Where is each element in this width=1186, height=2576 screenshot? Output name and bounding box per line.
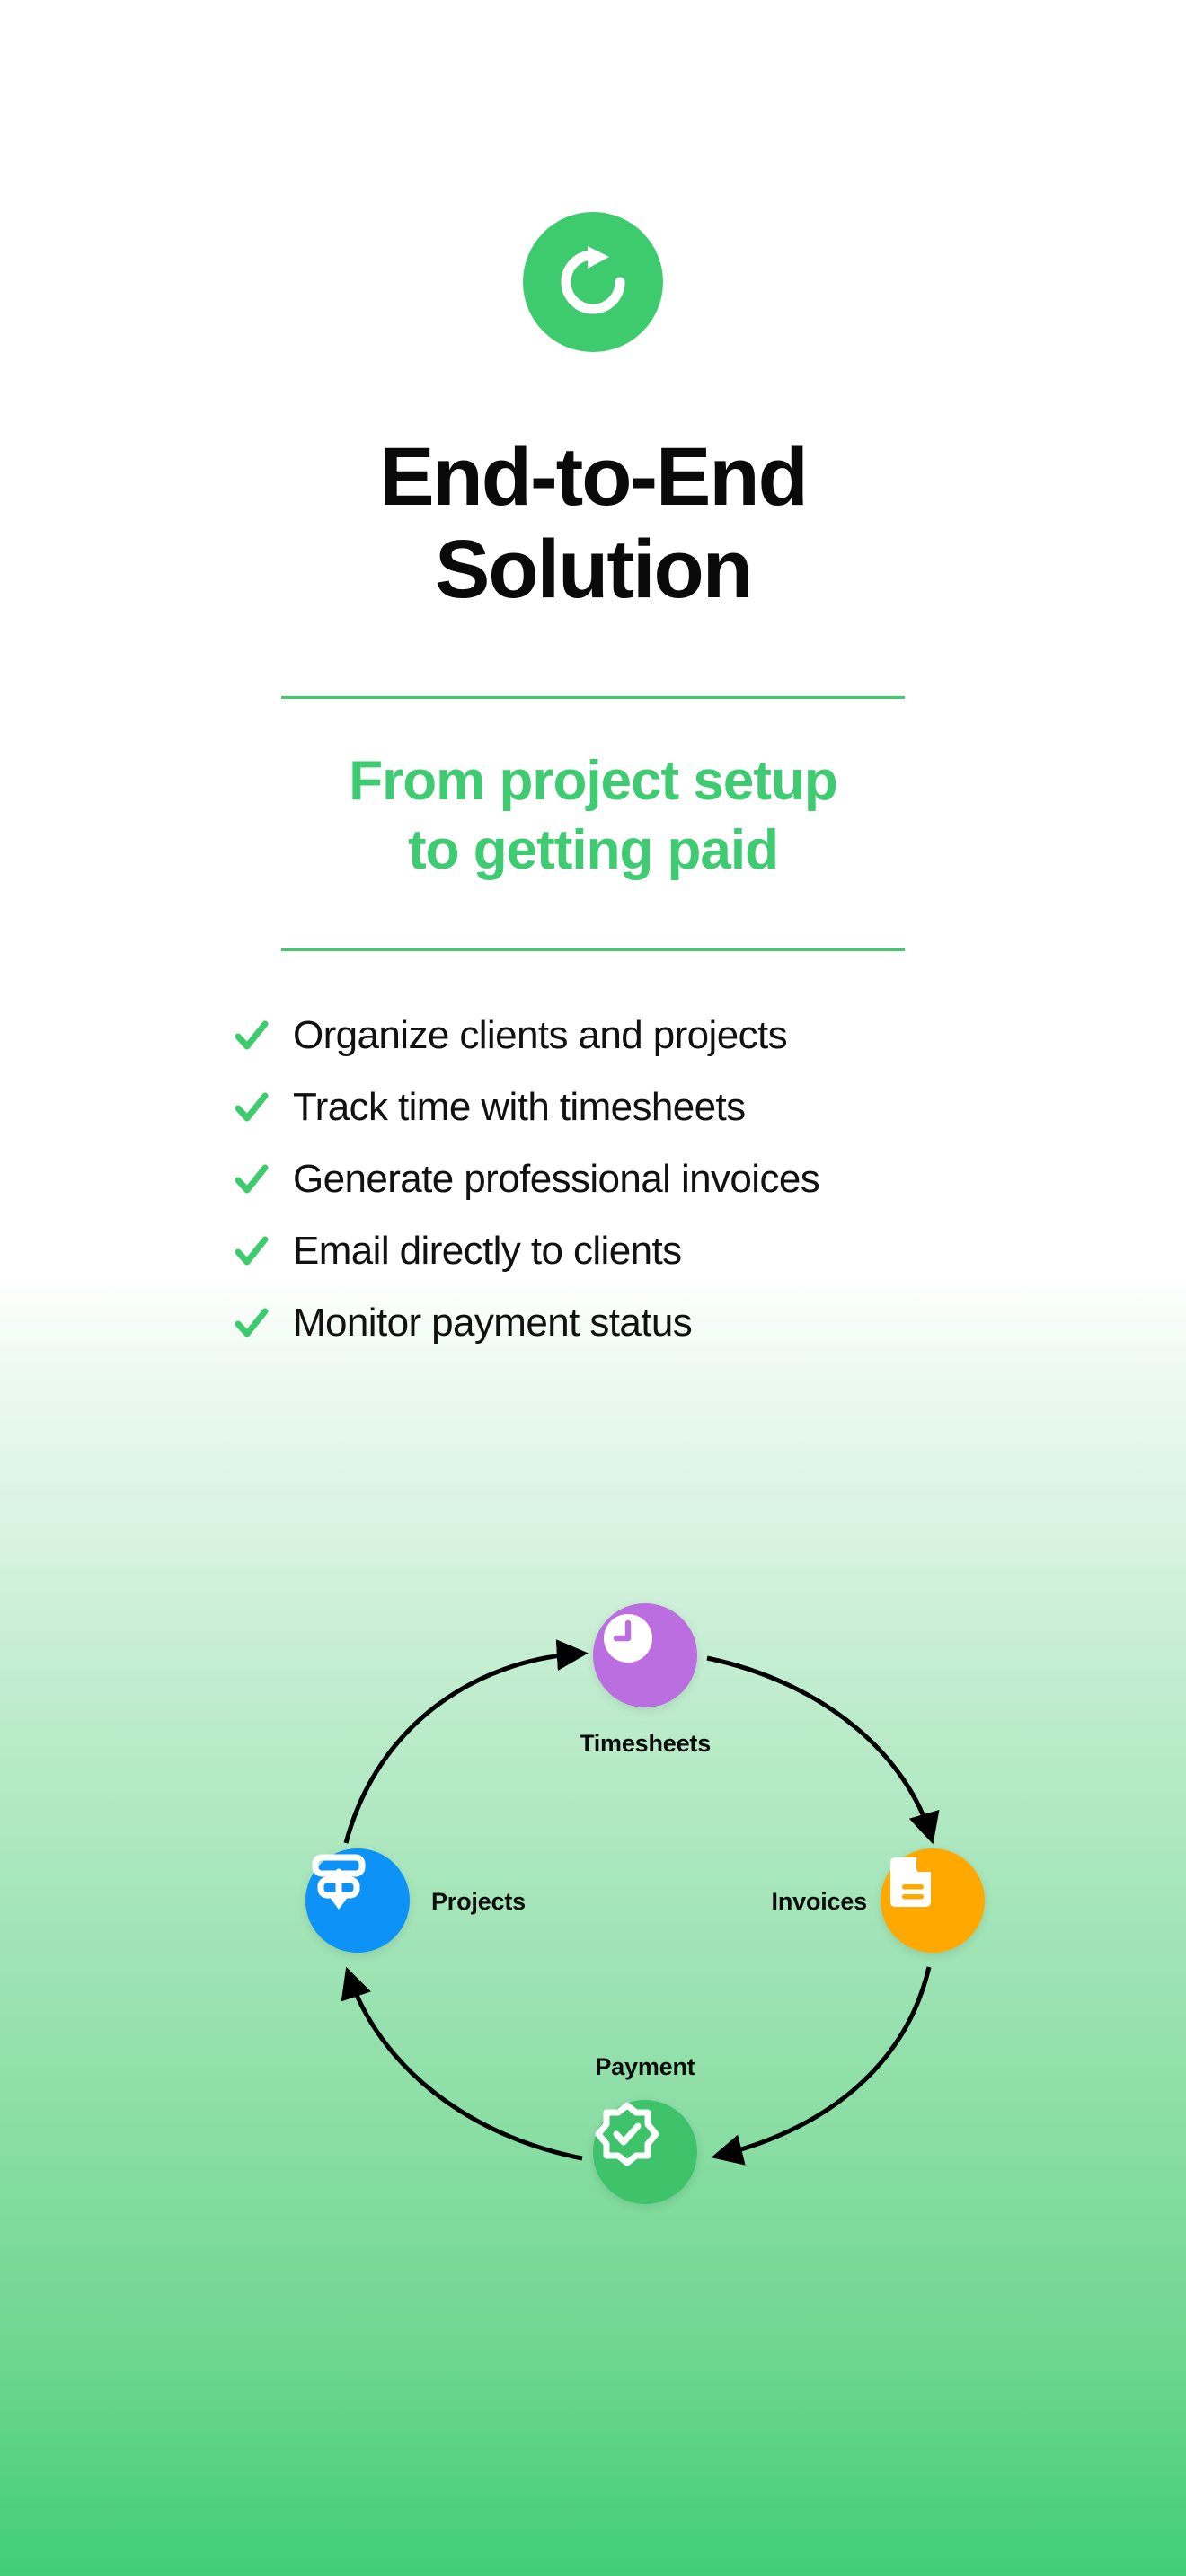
list-item-label: Monitor payment status bbox=[293, 1301, 692, 1345]
arrow-projects-to-timesheets bbox=[346, 1654, 580, 1843]
subtitle-line-2: to getting paid bbox=[0, 816, 1186, 886]
check-icon bbox=[232, 1088, 271, 1127]
list-item: Generate professional invoices bbox=[232, 1143, 1005, 1215]
page-root: End-to-End Solution From project setup t… bbox=[0, 0, 1186, 2576]
check-icon bbox=[232, 1160, 271, 1199]
check-icon bbox=[232, 1231, 271, 1271]
page-subtitle: From project setup to getting paid bbox=[0, 747, 1186, 886]
list-item: Organize clients and projects bbox=[232, 1000, 1005, 1072]
list-item-label: Organize clients and projects bbox=[293, 1013, 787, 1058]
workflow-cycle-diagram: Timesheets Invoices Payment bbox=[117, 1563, 1069, 2353]
title-line-2: Solution bbox=[0, 524, 1186, 616]
logo-container bbox=[0, 212, 1186, 352]
list-item: Track time with timesheets bbox=[232, 1072, 1005, 1143]
cycle-label-invoices: Invoices bbox=[705, 1888, 867, 1916]
arrow-timesheets-to-invoices bbox=[707, 1658, 931, 1837]
cycle-label-projects: Projects bbox=[431, 1888, 593, 1916]
check-icon bbox=[232, 1016, 271, 1055]
list-item-label: Generate professional invoices bbox=[293, 1157, 819, 1202]
feature-checklist: Organize clients and projects Track time… bbox=[232, 1000, 1005, 1359]
list-item: Email directly to clients bbox=[232, 1215, 1005, 1287]
page-title: End-to-End Solution bbox=[0, 431, 1186, 616]
cycle-node-payment[interactable] bbox=[593, 2100, 697, 2204]
subtitle-line-1: From project setup bbox=[0, 747, 1186, 816]
divider-top bbox=[281, 696, 905, 699]
refresh-cycle-icon bbox=[546, 235, 640, 329]
list-item-label: Track time with timesheets bbox=[293, 1085, 746, 1130]
cycle-label-timesheets: Timesheets bbox=[571, 1730, 719, 1758]
cycle-node-projects[interactable] bbox=[305, 1848, 410, 1953]
app-logo-badge bbox=[523, 212, 663, 352]
list-item: Monitor payment status bbox=[232, 1287, 1005, 1359]
list-item-label: Email directly to clients bbox=[293, 1229, 681, 1274]
cycle-node-invoices[interactable] bbox=[881, 1848, 985, 1953]
title-line-1: End-to-End bbox=[0, 431, 1186, 524]
arrow-invoices-to-payment bbox=[719, 1967, 929, 2156]
check-icon bbox=[232, 1303, 271, 1343]
cycle-node-timesheets[interactable] bbox=[593, 1603, 697, 1707]
arrow-payment-to-projects bbox=[349, 1974, 582, 2158]
cycle-arrows bbox=[117, 1563, 1069, 2353]
divider-bottom bbox=[281, 948, 905, 951]
cycle-label-payment: Payment bbox=[571, 2053, 719, 2081]
